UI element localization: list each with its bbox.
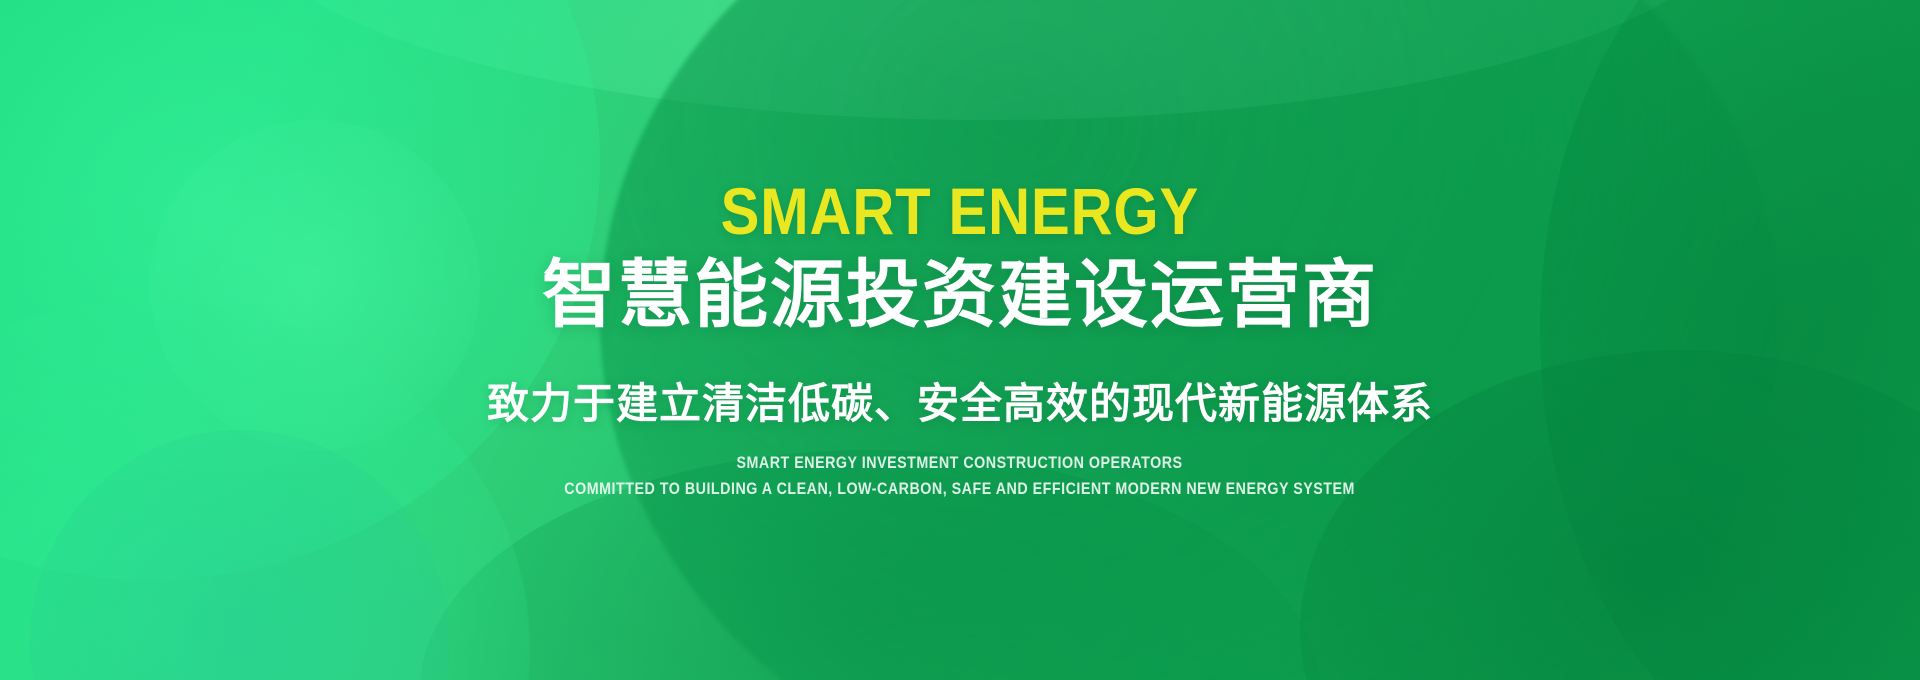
- banner-subtitle-chinese: 致力于建立清洁低碳、安全高效的现代新能源体系: [487, 379, 1433, 429]
- banner-subtitle-english-line1: SMART ENERGY INVESTMENT CONSTRUCTION OPE…: [737, 450, 1183, 476]
- hero-banner: SMART ENERGY 智慧能源投资建设运营商 致力于建立清洁低碳、安全高效的…: [0, 0, 1920, 680]
- banner-title-chinese: 智慧能源投资建设运营商: [542, 256, 1378, 334]
- banner-subtitle-english-line2: COMMITTED TO BUILDING A CLEAN, LOW-CARBO…: [565, 476, 1356, 502]
- banner-title-english: SMART ENERGY: [721, 178, 1199, 244]
- banner-content: SMART ENERGY 智慧能源投资建设运营商 致力于建立清洁低碳、安全高效的…: [0, 0, 1920, 680]
